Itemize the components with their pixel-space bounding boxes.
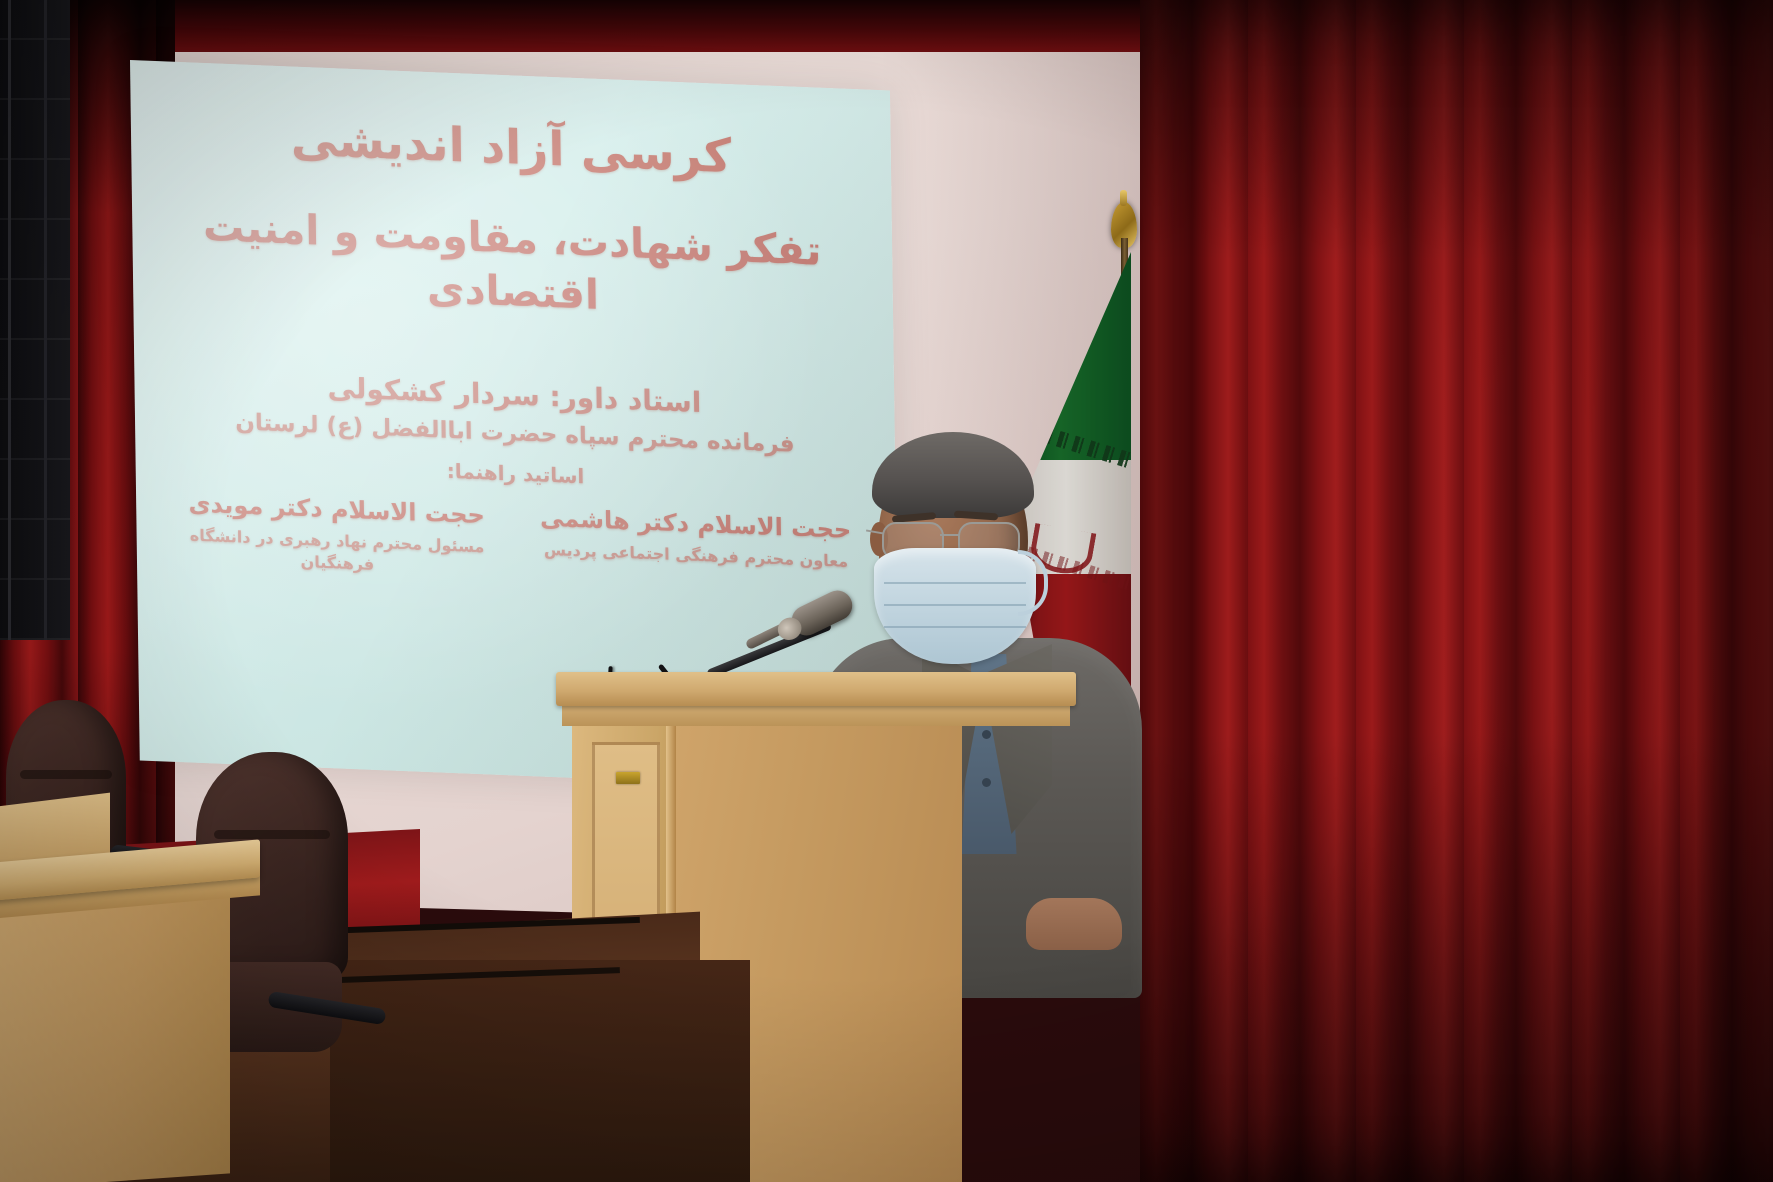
foreground-table <box>0 852 260 1182</box>
slide-subtitle: تفکر شهادت، مقاومت و امنیت اقتصادی <box>158 198 867 333</box>
mask-pleat <box>884 582 1027 584</box>
lighting-truss <box>0 0 70 640</box>
slide-advisors-row: حجت الاسلام دکتر هاشمی معاون محترم فرهنگ… <box>162 488 871 596</box>
mask-pleat <box>884 626 1027 628</box>
stage-curtain-right <box>1140 0 1773 1182</box>
table-body <box>0 897 230 1182</box>
curtain-valance <box>0 0 1300 52</box>
podium-brand-label <box>616 772 640 784</box>
advisor-entry: حجت الاسلام دکتر مویدی مسئول محترم نهاد … <box>162 488 512 581</box>
glasses-bridge <box>940 534 960 536</box>
hair <box>872 432 1034 518</box>
slide-heading: کرسی آزاد اندیشی <box>171 106 852 192</box>
mask-pleat <box>884 604 1027 606</box>
podium-top-surface <box>556 672 1076 706</box>
advisor-role: مسئول محترم نهاد رهبری در دانشگاه فرهنگی… <box>162 524 512 581</box>
mask-ear-loop <box>1018 550 1048 616</box>
stage-floor-far <box>330 960 750 1182</box>
auditorium-scene: کرسی آزاد اندیشی تفکر شهادت، مقاومت و ام… <box>0 0 1773 1182</box>
advisor-entry: حجت الاسلام دکتر هاشمی معاون محترم فرهنگ… <box>521 502 871 595</box>
